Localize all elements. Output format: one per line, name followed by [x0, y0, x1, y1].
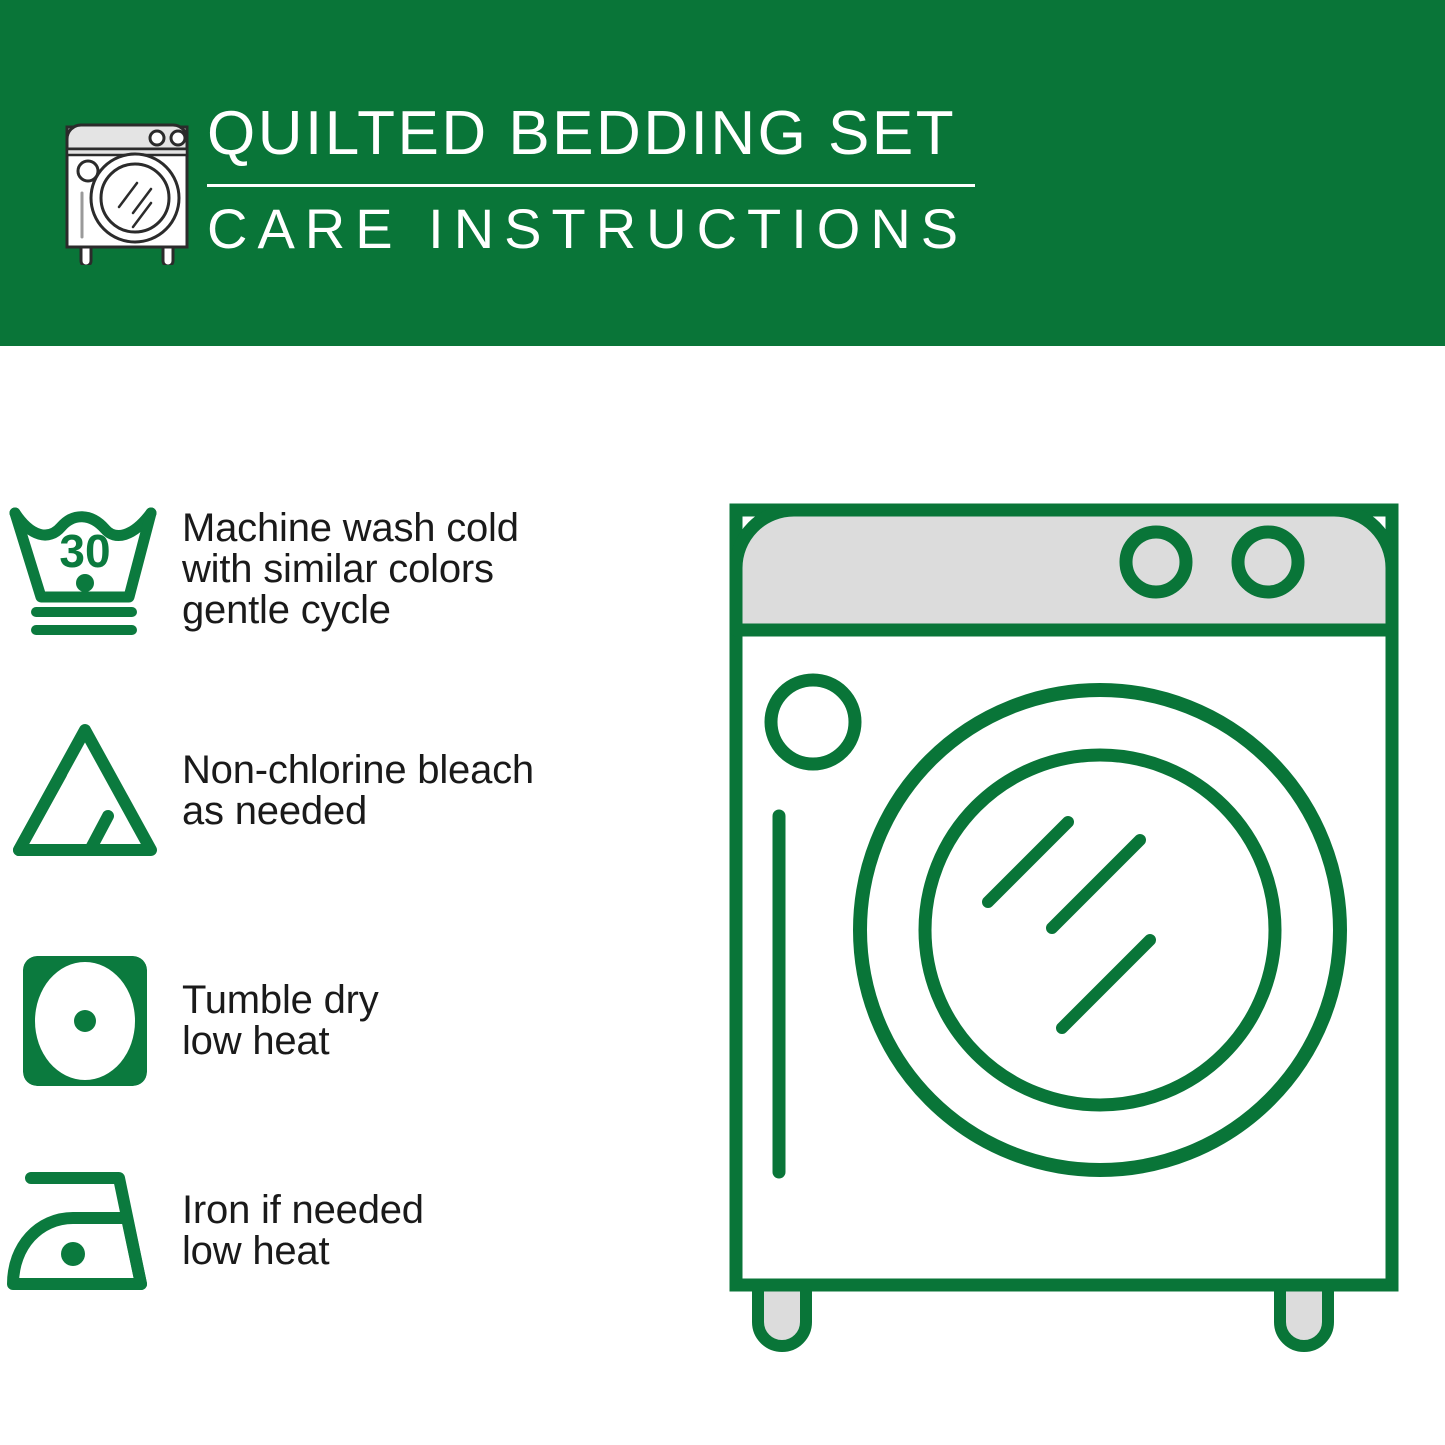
care-text-line: Tumble dry: [182, 980, 379, 1021]
care-text-line: Non-chlorine bleach: [182, 750, 534, 791]
title-divider: [207, 184, 975, 187]
care-text-line: as needed: [182, 791, 534, 832]
care-instructions-page: QUILTED BEDDING SET CARE INSTRUCTIONS: [0, 0, 1445, 1445]
tumble-dry-low-icon: [0, 936, 170, 1106]
care-text-line: Machine wash cold: [182, 508, 519, 549]
header-text-block: QUILTED BEDDING SET CARE INSTRUCTIONS: [207, 98, 997, 261]
care-text-line: with similar colors: [182, 549, 519, 590]
washer-dispenser-circle: [771, 680, 855, 764]
care-row-wash: 30 Machine wash cold with similar colors…: [0, 484, 700, 654]
page-title: QUILTED BEDDING SET: [207, 98, 997, 170]
care-row-bleach: Non-chlorine bleach as needed: [0, 706, 700, 876]
care-text-line: Iron if needed: [182, 1190, 424, 1231]
care-text-line: low heat: [182, 1231, 424, 1272]
iron-low-heat-icon: [0, 1146, 170, 1316]
care-text-dry: Tumble dry low heat: [170, 980, 379, 1062]
washer-door-inner: [925, 755, 1275, 1105]
page-subtitle: CARE INSTRUCTIONS: [207, 197, 997, 261]
washing-machine-icon: [57, 97, 197, 265]
care-text-iron: Iron if needed low heat: [170, 1190, 424, 1272]
triangle-non-chlorine-bleach-icon: [0, 706, 170, 876]
care-text-line: low heat: [182, 1021, 379, 1062]
wash-temp-label: 30: [59, 525, 110, 577]
care-instruction-list: 30 Machine wash cold with similar colors…: [0, 346, 700, 1445]
care-row-dry: Tumble dry low heat: [0, 936, 700, 1106]
header-band: QUILTED BEDDING SET CARE INSTRUCTIONS: [0, 0, 1445, 346]
care-text-wash: Machine wash cold with similar colors ge…: [170, 508, 519, 631]
care-text-bleach: Non-chlorine bleach as needed: [170, 750, 534, 832]
wash-tub-30-icon: 30: [0, 484, 170, 654]
care-text-line: gentle cycle: [182, 590, 519, 631]
washing-machine-illustration: [700, 450, 1430, 1370]
care-row-iron: Iron if needed low heat: [0, 1146, 700, 1316]
